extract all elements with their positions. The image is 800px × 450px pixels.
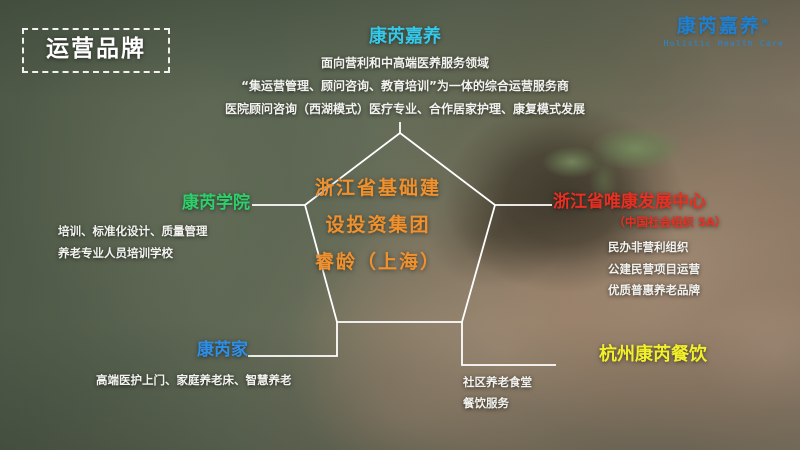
node-bottom-right-title: 杭州康芮餐饮	[455, 344, 755, 366]
center-node-text: 浙江省基础建 设投资集团 睿龄（上海）	[278, 170, 478, 281]
node-right: 浙江省唯康发展中心 （中国社会组织 5A） 民办非营利组织 公建民营项目运营 优…	[553, 192, 800, 301]
slide-canvas: 运营品牌 康芮嘉养® Holistic Health Care 浙江省基础建 设…	[0, 0, 800, 450]
node-bottom-left-title: 康芮家	[18, 340, 258, 360]
center-line-1: 浙江省基础建	[278, 170, 478, 207]
node-bottom-left-line-1: 高端医护上门、家庭养老床、智慧养老	[96, 370, 258, 391]
node-left-line-2: 养老专业人员培训学校	[58, 243, 258, 264]
node-top-title: 康芮嘉养	[190, 26, 620, 48]
node-bottom-right: 杭州康芮餐饮 社区养老食堂 餐饮服务	[455, 344, 755, 414]
node-right-line-1: 民办非营利组织	[608, 237, 800, 258]
node-right-title: 浙江省唯康发展中心	[553, 192, 800, 212]
node-right-line-3: 优质普惠养老品牌	[608, 280, 800, 301]
node-right-details: 民办非营利组织 公建民营项目运营 优质普惠养老品牌	[553, 237, 800, 301]
node-bottom-right-line-2: 餐饮服务	[463, 393, 755, 414]
node-top-line-2: “集运营管理、顾问咨询、教育培训”为一体的综合运营服务商	[190, 75, 620, 98]
node-left-title: 康芮学院	[18, 193, 258, 213]
center-node: 浙江省基础建 设投资集团 睿龄（上海）	[278, 126, 478, 336]
node-bottom-left: 康芮家 高端医护上门、家庭养老床、智慧养老	[18, 340, 258, 392]
node-bottom-left-details: 高端医护上门、家庭养老床、智慧养老	[18, 370, 258, 391]
node-left-line-1: 培训、标准化设计、质量管理	[58, 221, 258, 242]
node-top: 康芮嘉养 面向营利和中高端医养服务领域 “集运营管理、顾问咨询、教育培训”为一体…	[190, 26, 620, 122]
center-line-2: 设投资集团	[278, 207, 478, 244]
node-left: 康芮学院 培训、标准化设计、质量管理 养老专业人员培训学校	[18, 193, 258, 264]
node-bottom-right-line-1: 社区养老食堂	[463, 372, 755, 393]
center-line-3: 睿龄（上海）	[278, 244, 478, 281]
node-right-line-2: 公建民营项目运营	[608, 259, 800, 280]
node-top-line-1: 面向营利和中高端医养服务领域	[190, 52, 620, 75]
node-top-details: 面向营利和中高端医养服务领域 “集运营管理、顾问咨询、教育培训”为一体的综合运营…	[190, 52, 620, 122]
node-bottom-right-details: 社区养老食堂 餐饮服务	[455, 372, 755, 415]
node-left-details: 培训、标准化设计、质量管理 养老专业人员培训学校	[18, 221, 258, 264]
node-right-subtitle: （中国社会组织 5A）	[553, 214, 800, 230]
node-top-line-3: 医院顾问咨询（西湖模式）医疗专业、合作居家护理、康复模式发展	[190, 98, 620, 121]
